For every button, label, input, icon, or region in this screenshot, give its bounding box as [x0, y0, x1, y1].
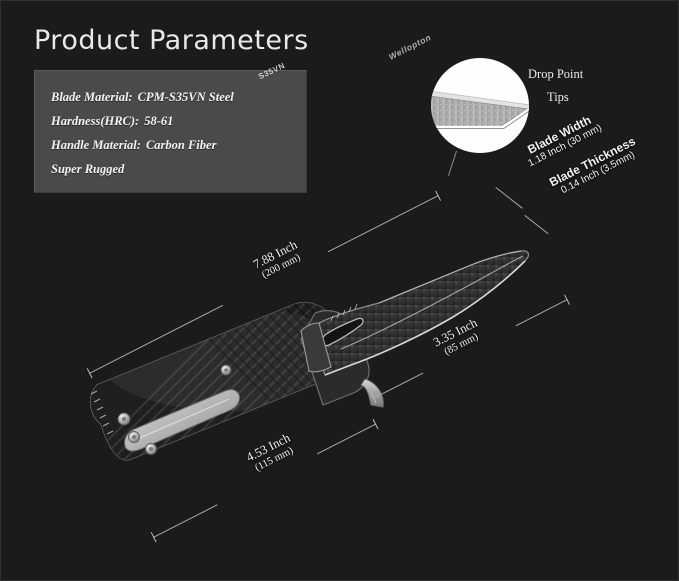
drop-point-magnifier: [431, 58, 529, 153]
drop-point-label: Drop Point: [528, 67, 583, 82]
spec-value: CPM-S35VN Steel: [138, 90, 234, 104]
spec-value: Carbon Fiber: [146, 138, 217, 152]
blade-brand-etch: Wellopton: [387, 32, 433, 62]
spec-label: Handle Material:: [51, 138, 141, 152]
spec-row: Blade Material:CPM-S35VN Steel: [51, 90, 234, 105]
dimension-line-blade-width: [496, 187, 523, 208]
blade-tip-detail-icon: [431, 85, 529, 131]
spec-label: Blade Material:: [51, 90, 133, 104]
tips-label: Tips: [547, 90, 569, 105]
body-screw: [221, 365, 231, 375]
page-title: Product Parameters: [34, 25, 309, 56]
spec-panel: Blade Material:CPM-S35VN Steel Hardness(…: [34, 70, 307, 193]
spec-row: Super Rugged: [51, 162, 129, 177]
spec-label: Super Rugged: [51, 162, 124, 176]
spec-label: Hardness(HRC):: [51, 114, 139, 128]
spec-value: 58-61: [144, 114, 173, 128]
spec-row: Handle Material:Carbon Fiber: [51, 138, 216, 153]
product-parameters-infographic: Product Parameters Blade Material:CPM-S3…: [0, 0, 679, 581]
magnifier-leader-line: [448, 151, 457, 176]
spec-row: Hardness(HRC):58-61: [51, 114, 173, 129]
